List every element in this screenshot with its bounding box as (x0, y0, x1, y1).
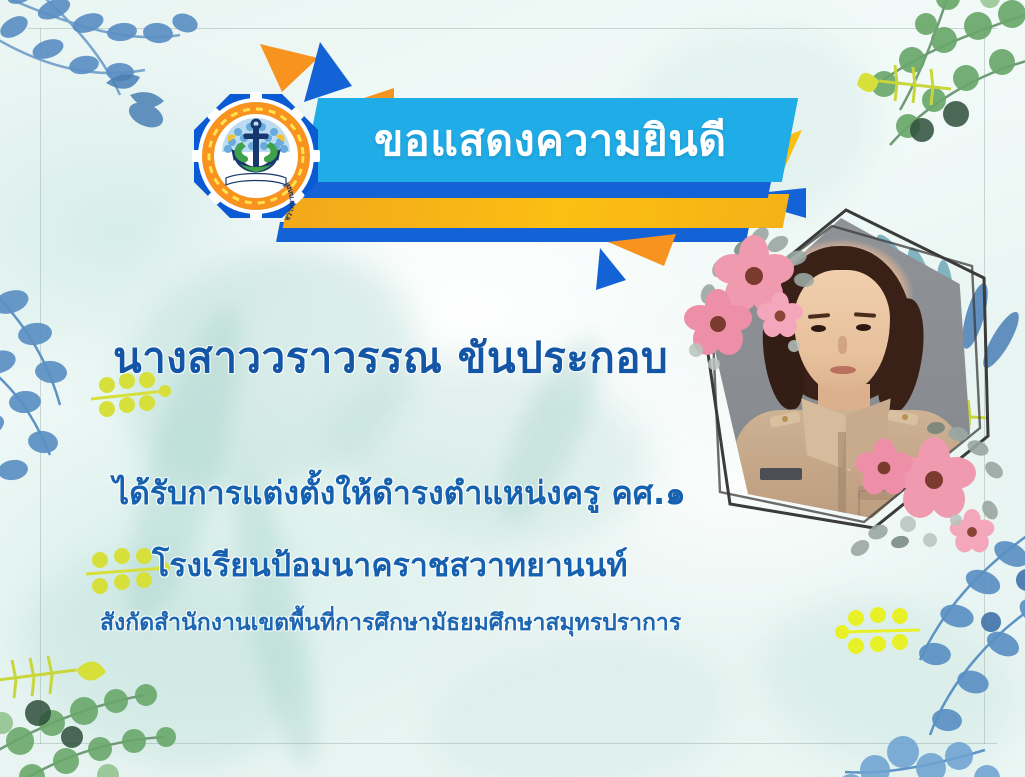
frame-line-bottom (28, 743, 997, 744)
hexagon-frame-icon (696, 204, 996, 534)
office-line: สังกัดสำนักงานเขตพื้นที่การศึกษามัธยมศึก… (100, 605, 681, 641)
appointment-line: ได้รับการแต่งตั้งให้ดำรงตำแหน่งครู คศ.๑ (113, 468, 686, 519)
school-emblem-icon: โรงเรียนป้อมนาคราชสวาทยานนท์ (192, 92, 320, 220)
recipient-name: นางสาววราวรรณ ขันประกอบ (113, 325, 668, 391)
frame-line-left (40, 28, 41, 744)
certificate-card: ขอแสดงความยินดี (0, 0, 1025, 777)
portrait-group (688, 196, 1008, 566)
frame-line-top (28, 28, 997, 29)
banner-title-bar: ขอแสดงความยินดี (302, 98, 798, 182)
school-name-line: โรงเรียนป้อมนาคราชสวาทยานนท์ (152, 540, 628, 591)
banner-title-text: ขอแสดงความยินดี (374, 106, 727, 174)
